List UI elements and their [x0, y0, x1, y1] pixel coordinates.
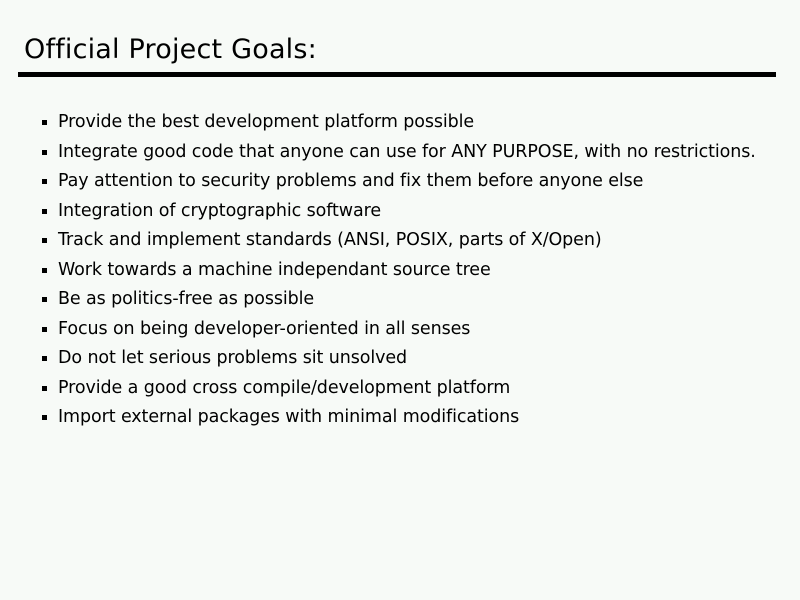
- list-item: Provide the best development platform po…: [40, 108, 770, 138]
- list-item-label: Integrate good code that anyone can use …: [58, 138, 770, 168]
- list-item-label: Import external packages with minimal mo…: [58, 403, 770, 433]
- square-bullet-icon: [42, 297, 47, 302]
- list-item: Import external packages with minimal mo…: [40, 403, 770, 433]
- square-bullet-icon: [42, 415, 47, 420]
- list-item: Pay attention to security problems and f…: [40, 167, 770, 197]
- square-bullet-icon: [42, 179, 47, 184]
- square-bullet-icon: [42, 356, 47, 361]
- list-item-label: Be as politics-free as possible: [58, 285, 770, 315]
- list-item-label: Integration of cryptographic software: [58, 197, 770, 227]
- list-item: Track and implement standards (ANSI, POS…: [40, 226, 770, 256]
- list-item-label: Track and implement standards (ANSI, POS…: [58, 226, 770, 256]
- list-item: Provide a good cross compile/development…: [40, 374, 770, 404]
- presentation-slide: Official Project Goals: Provide the best…: [0, 0, 800, 600]
- square-bullet-icon: [42, 150, 47, 155]
- list-item: Integration of cryptographic software: [40, 197, 770, 227]
- list-item: Be as politics-free as possible: [40, 285, 770, 315]
- list-item: Work towards a machine independant sourc…: [40, 256, 770, 286]
- square-bullet-icon: [42, 238, 47, 243]
- list-item-label: Pay attention to security problems and f…: [58, 167, 770, 197]
- square-bullet-icon: [42, 327, 47, 332]
- square-bullet-icon: [42, 120, 47, 125]
- page-title: Official Project Goals:: [24, 33, 317, 67]
- title-divider: [18, 72, 776, 77]
- list-item: Do not let serious problems sit unsolved: [40, 344, 770, 374]
- list-item: Focus on being developer-oriented in all…: [40, 315, 770, 345]
- list-item-label: Provide a good cross compile/development…: [58, 374, 770, 404]
- list-item-label: Provide the best development platform po…: [58, 108, 770, 138]
- goals-bullet-list: Provide the best development platform po…: [40, 108, 770, 433]
- list-item-label: Work towards a machine independant sourc…: [58, 256, 770, 286]
- square-bullet-icon: [42, 386, 47, 391]
- list-item-label: Do not let serious problems sit unsolved: [58, 344, 770, 374]
- list-item: Integrate good code that anyone can use …: [40, 138, 770, 168]
- square-bullet-icon: [42, 268, 47, 273]
- list-item-label: Focus on being developer-oriented in all…: [58, 315, 770, 345]
- square-bullet-icon: [42, 209, 47, 214]
